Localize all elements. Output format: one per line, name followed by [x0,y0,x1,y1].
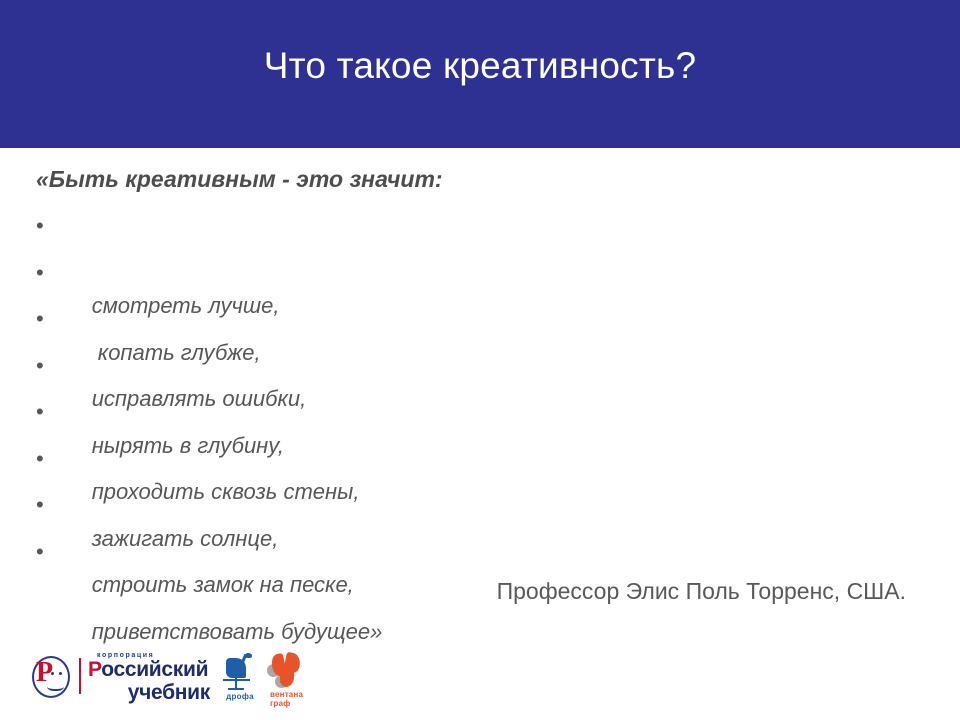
drofa-logo-icon: дрофа [218,654,262,710]
emblem-smile [47,680,64,691]
footer-logo-group: Р корпорация Российский учебник дрофа ве… [30,650,300,714]
page-title: Что такое креативность? [0,44,960,88]
bullet-icon: • [36,253,48,293]
list-item: • строить замок на песке, [0,485,960,532]
slide-header-banner: Что такое креативность? [0,0,960,148]
list-item: • нырять в глубину, [0,346,960,393]
bullet-icon: • [36,485,48,525]
list-item: • смотреть лучше, [0,206,960,253]
quote-intro-line: «Быть креативным - это значит: [36,164,443,194]
list-item: • проходить сквозь стены, [0,392,960,439]
rossiyskiy-uchebnik-emblem-icon: Р [30,654,74,702]
drofa-bird-head [245,653,252,658]
emblem-eye-right [59,672,62,675]
emblem-eye-left [51,672,54,675]
ventana-wing-bottom [279,668,295,687]
slide-content-area: «Быть креативным - это значит: • смотрет… [0,148,960,720]
logo-divider [79,658,81,694]
bullet-icon: • [36,439,48,479]
wordmark-line-one: Российский [88,658,208,682]
wordmark-capital: Р [88,658,101,681]
list-item: • исправлять ошибки, [0,299,960,346]
list-item: • зажигать солнце, [0,439,960,486]
rossiyskiy-uchebnik-wordmark: корпорация Российский учебник [88,650,210,710]
bullet-icon: • [36,346,48,386]
list-item: • копать глубже, [0,253,960,300]
ventana-label-line-two: граф [270,699,290,708]
list-item: • приветствовать будущее» [0,532,960,579]
list-item-label: приветствовать будущее» [92,619,383,644]
bullet-icon: • [36,392,48,432]
ventana-label-line-one: вентана [270,690,303,699]
attribution-line: Профессор Элис Поль Торренс, США. [0,575,906,607]
wordmark-line-two: учебник [88,681,210,705]
ventana-graf-logo-icon: вентана граф [266,652,314,712]
wordmark-line-one-rest: оссийский [101,658,208,681]
drofa-foot [228,688,244,690]
drofa-label: дрофа [218,692,262,702]
bullet-icon: • [36,299,48,339]
bullet-icon: • [36,532,48,572]
bullet-list: • смотреть лучше, • копать глубже, • исп… [0,206,960,578]
bullet-icon: • [36,206,48,246]
